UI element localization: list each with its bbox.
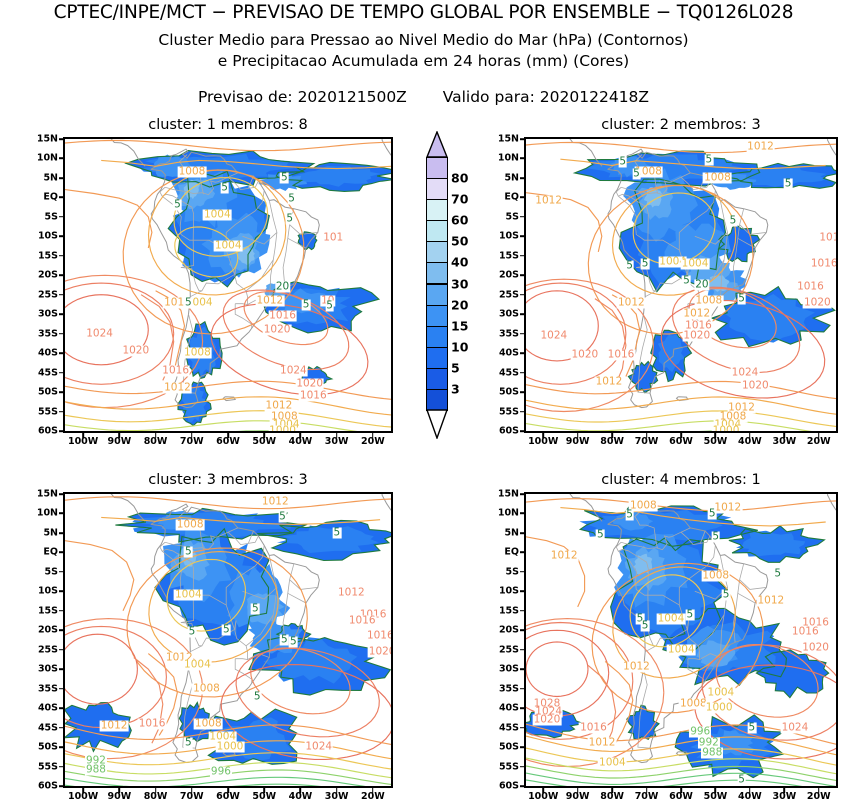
colorbar-tick-label: 15 <box>451 318 468 333</box>
y-axis-label: 60S <box>499 426 519 437</box>
y-axis-tick <box>59 610 64 612</box>
y-axis-label: 55S <box>499 406 519 417</box>
page-title: CPTEC/INPE/MCT − PREVISAO DE TEMPO GLOBA… <box>0 2 847 23</box>
y-axis-label: 20S <box>499 625 519 636</box>
isobar-label: 1012 <box>756 596 785 607</box>
y-axis-tick <box>59 333 64 335</box>
x-axis-label: 100W <box>68 436 98 447</box>
isobar-label: 1016 <box>810 258 838 269</box>
y-axis-tick <box>520 746 525 748</box>
y-axis-tick <box>520 629 525 631</box>
precip-contour-label: 5 <box>222 625 231 636</box>
plot-area-cluster-1[interactable]: 1008100410041012100410121016102010241020… <box>63 137 393 433</box>
y-axis-tick <box>520 216 525 218</box>
y-axis-tick <box>59 411 64 413</box>
precip-contour-label: 5 <box>184 738 193 749</box>
x-axis-label: 50W <box>704 791 728 802</box>
y-axis-label: 60S <box>38 781 58 792</box>
y-axis-tick <box>520 610 525 612</box>
y-axis-label: 45S <box>499 367 519 378</box>
isobar-label: 1004 <box>657 613 686 624</box>
y-axis-label: 20S <box>38 625 58 636</box>
y-axis-label: 10S <box>38 586 58 597</box>
y-axis-label: 10S <box>38 231 58 242</box>
isobar-label: 1024 <box>781 722 810 733</box>
y-axis-tick <box>59 785 64 787</box>
isobar-label: 1012 <box>337 588 366 599</box>
isobar-label: 1012 <box>713 502 742 513</box>
y-axis-label: 5N <box>43 527 58 538</box>
x-axis-label: 60W <box>216 791 240 802</box>
precip-contour-label: 5 <box>641 621 650 632</box>
panel-cluster-3[interactable]: cluster: 3 membros: 3 101210081004101210… <box>63 492 393 788</box>
precip-contour-label: 5 <box>184 547 193 558</box>
colorbar-band <box>426 326 448 348</box>
isobar-label: 1020 <box>533 714 562 725</box>
colorbar-gradient <box>426 157 448 410</box>
isobar-label: 1016 <box>579 722 608 733</box>
x-axis-label: 30W <box>772 436 796 447</box>
colorbar-tick-label: 70 <box>451 192 468 207</box>
x-axis-label: 30W <box>325 436 349 447</box>
x-axis-label: 40W <box>289 791 313 802</box>
panel-title-cluster-2: cluster: 2 membros: 3 <box>524 117 838 133</box>
y-axis-tick <box>59 688 64 690</box>
x-axis-label: 80W <box>600 436 624 447</box>
isobar-label: 1004 <box>598 757 627 768</box>
isobar-label: 1004 <box>214 241 243 252</box>
precip-contour-label: 5 <box>722 590 731 601</box>
x-axis-label: 80W <box>600 791 624 802</box>
x-axis-label: 100W <box>68 791 98 802</box>
isobar-label: 1020 <box>121 346 150 357</box>
y-axis-tick <box>59 629 64 631</box>
isobar-label: 1008 <box>694 295 723 306</box>
y-axis-label: 5N <box>504 172 519 183</box>
y-axis-tick <box>59 255 64 257</box>
isobar-label: 1008 <box>679 699 708 710</box>
y-axis-label: 30S <box>38 664 58 675</box>
x-axis-label: 50W <box>252 436 276 447</box>
y-axis-label: 5N <box>504 527 519 538</box>
valid-for: Valido para: 2020122418Z <box>443 88 649 106</box>
colorbar-tick-label: 20 <box>451 297 468 312</box>
x-axis-label: 90W <box>107 436 131 447</box>
x-axis-label: 90W <box>566 436 590 447</box>
isobar-label: 1012 <box>588 738 617 749</box>
colorbar-band <box>426 262 448 284</box>
y-axis-tick <box>520 177 525 179</box>
isobar-label: 1016 <box>791 627 820 638</box>
precip-contour-label: 20 <box>694 280 709 291</box>
precip-contour-label: 20 <box>275 281 290 292</box>
isobar-label: 1004 <box>681 258 710 269</box>
y-axis-tick <box>59 552 64 554</box>
x-axis-label: 20W <box>361 791 385 802</box>
isobar-label: 1004 <box>203 209 232 220</box>
y-axis-tick <box>520 372 525 374</box>
isobar-label: 1016 <box>366 631 393 642</box>
y-axis-label: 10N <box>37 508 58 519</box>
x-axis-label: 80W <box>144 791 168 802</box>
y-axis-tick <box>59 430 64 432</box>
y-axis-label: 10N <box>37 153 58 164</box>
x-axis-label: 60W <box>216 436 240 447</box>
y-axis-label: 15N <box>498 489 519 500</box>
isobar-label: 1020 <box>803 297 832 308</box>
x-axis-label: 40W <box>738 791 762 802</box>
x-axis-label: 70W <box>180 436 204 447</box>
colorbar-band <box>426 178 448 200</box>
precip-contour-label: 5 <box>253 691 262 702</box>
precip-contour-label: 5 <box>682 276 691 287</box>
y-axis-label: 35S <box>499 328 519 339</box>
map-canvas <box>526 494 836 786</box>
panel-cluster-4[interactable]: cluster: 4 membros: 1 100810121012100810… <box>524 492 838 788</box>
precip-contour-label: 5 <box>220 182 229 193</box>
colorbar-legend: 80706050403020151053 <box>421 131 477 439</box>
y-axis-tick <box>520 274 525 276</box>
y-axis-label: 10S <box>499 586 519 597</box>
x-axis-label: 20W <box>807 436 831 447</box>
isobar-label: 1024 <box>731 367 760 378</box>
y-axis-label: 50S <box>499 742 519 753</box>
colorbar-tick-label: 50 <box>451 234 468 249</box>
isobar-label: 1016 <box>268 311 297 322</box>
y-axis-tick <box>520 552 525 554</box>
y-axis-label: 25S <box>499 289 519 300</box>
precip-contour-label: 5 <box>251 603 260 614</box>
isobar-label: 1016 <box>796 281 825 292</box>
isobar-label: 1020 <box>801 642 830 653</box>
y-axis-label: 45S <box>38 722 58 733</box>
y-axis-tick <box>520 668 525 670</box>
isobar-label: 1020 <box>295 379 324 390</box>
y-axis-tick <box>59 707 64 709</box>
plot-area-cluster-2[interactable]: 1012100810081012100410041011016101610201… <box>524 137 838 433</box>
plot-area-cluster-3[interactable]: 1012100810041012101610161020101210041008… <box>63 492 393 788</box>
y-axis-label: 5S <box>45 211 58 222</box>
y-axis-label: 10N <box>498 153 519 164</box>
y-axis-label: 15S <box>499 250 519 261</box>
colorbar-tick-label: 40 <box>451 255 468 270</box>
subtitle-line-1: Cluster Medio para Pressao ao Nivel Medi… <box>0 31 847 49</box>
isobar-label: 1012 <box>746 141 775 152</box>
isobar-label: 1004 <box>707 687 736 698</box>
isobar-label: 1004 <box>667 644 696 655</box>
forecast-time-line: Previsao de: 2020121500Z Valido para: 20… <box>0 88 847 106</box>
colorbar-tick-label: 10 <box>451 339 468 354</box>
y-axis-label: 35S <box>38 683 58 694</box>
x-axis-label: 100W <box>528 436 558 447</box>
isobar-label: 1012 <box>595 377 624 388</box>
y-axis-label: 40S <box>38 348 58 359</box>
isobar-label: 1008 <box>183 348 212 359</box>
y-axis-tick <box>59 649 64 651</box>
precip-contour-label: 5 <box>280 172 289 183</box>
colorbar-band <box>426 241 448 263</box>
precip-contour-label: 5 <box>618 157 627 168</box>
isobar-label: 996 <box>210 767 232 778</box>
precip-contour-label: 5 <box>325 301 334 312</box>
precip-contour-label: 5 <box>173 200 182 211</box>
y-axis-tick <box>520 236 525 238</box>
x-axis-label: 100W <box>528 791 558 802</box>
precip-contour-label: 5 <box>737 293 746 304</box>
isobar-label: 1024 <box>279 365 308 376</box>
y-axis-tick <box>520 785 525 787</box>
y-axis-label: 25S <box>499 644 519 655</box>
y-axis-label: 15N <box>37 134 58 145</box>
y-axis-label: 40S <box>499 703 519 714</box>
isobar-label: 1008 <box>176 520 205 531</box>
colorbar-band <box>426 368 448 390</box>
y-axis-tick <box>59 158 64 160</box>
y-axis-label: 15S <box>38 605 58 616</box>
y-axis-tick <box>520 591 525 593</box>
y-axis-tick <box>520 333 525 335</box>
y-axis-label: 55S <box>38 761 58 772</box>
y-axis-label: 45S <box>499 722 519 733</box>
precip-contour-label: 5 <box>686 609 695 620</box>
colorbar-band <box>426 347 448 369</box>
colorbar-band <box>426 389 448 411</box>
precip-contour-label: 5 <box>773 568 782 579</box>
isobar-label: 1012 <box>682 309 711 320</box>
x-axis-label: 70W <box>180 791 204 802</box>
isobar-label: 1012 <box>617 297 646 308</box>
y-axis-tick <box>520 727 525 729</box>
precip-contour-label: 5 <box>708 508 717 519</box>
y-axis-tick <box>520 158 525 160</box>
precip-contour-label: 5 <box>289 636 298 647</box>
y-axis-tick <box>520 707 525 709</box>
colorbar-tick-label: 30 <box>451 276 468 291</box>
y-axis-tick <box>59 372 64 374</box>
precip-contour-label: 5 <box>711 531 720 542</box>
precip-contour-label: 5 <box>596 529 605 540</box>
y-axis-tick <box>59 571 64 573</box>
precip-contour-label: 5 <box>302 299 311 310</box>
y-axis-label: 60S <box>38 426 58 437</box>
isobar-label: 1020 <box>368 646 393 657</box>
y-axis-label: 15S <box>38 250 58 261</box>
colorbar-tick-label: 3 <box>451 381 460 396</box>
isobar-label: 1004 <box>183 660 212 671</box>
y-axis-label: 15S <box>499 605 519 616</box>
y-axis-tick <box>520 313 525 315</box>
panel-cluster-2[interactable]: cluster: 2 membros: 3 101210081008101210… <box>524 137 838 433</box>
isobar-label: 1020 <box>570 350 599 361</box>
y-axis-label: 55S <box>499 761 519 772</box>
isobar-label: 1016 <box>161 365 190 376</box>
precip-contour-label: 5 <box>632 169 641 180</box>
y-axis-label: 50S <box>38 742 58 753</box>
y-axis-label: 30S <box>38 309 58 320</box>
y-axis-label: EQ <box>43 192 58 203</box>
isobar-label: 1020 <box>263 324 292 335</box>
isobar-label: 1012 <box>550 551 579 562</box>
y-axis-tick <box>59 591 64 593</box>
x-axis-label: 20W <box>361 436 385 447</box>
precip-contour-label: 5 <box>784 178 793 189</box>
isobar-label: 1024 <box>304 742 333 753</box>
colorbar-tick-label: 60 <box>451 213 468 228</box>
y-axis-tick <box>59 274 64 276</box>
colorbar-band <box>426 157 448 179</box>
y-axis-tick <box>520 430 525 432</box>
isobar-label: 1024 <box>539 330 568 341</box>
precip-contour-label: 5 <box>625 510 634 521</box>
x-axis-label: 60W <box>669 436 693 447</box>
isobar-label: 1008 <box>178 167 207 178</box>
y-axis-label: 5S <box>506 566 519 577</box>
y-axis-label: 45S <box>38 367 58 378</box>
y-axis-label: 20S <box>499 270 519 281</box>
y-axis-label: 5S <box>506 211 519 222</box>
isobar-label: 1000 <box>705 703 734 714</box>
y-axis-label: 35S <box>38 328 58 339</box>
isobar-label: 1020 <box>682 330 711 341</box>
isobar-label: 1000 <box>268 426 297 433</box>
isobar-label: 1012 <box>622 662 651 673</box>
y-axis-label: 10N <box>498 508 519 519</box>
isobar-label: 1012 <box>265 400 294 411</box>
isobar-label: 101 <box>322 233 344 244</box>
subtitle-line-2: e Precipitacao Acumulada em 24 horas (mm… <box>0 52 847 70</box>
x-axis-label: 90W <box>566 791 590 802</box>
isobar-label: 1016 <box>138 718 167 729</box>
x-axis-label: 50W <box>252 791 276 802</box>
isobar-label: 988 <box>701 747 723 758</box>
y-axis-tick <box>59 294 64 296</box>
y-axis-tick <box>59 236 64 238</box>
isobar-label: 1016 <box>299 390 328 401</box>
x-axis-label: 80W <box>144 436 168 447</box>
y-axis-tick <box>520 688 525 690</box>
isobar-label: 996 <box>689 726 711 737</box>
precip-contour-label: 5 <box>333 527 342 538</box>
isobar-label: 1008 <box>703 172 732 183</box>
precip-contour-label: 5 <box>704 155 713 166</box>
colorbar-over-arrow-icon <box>426 131 448 158</box>
y-axis-tick <box>520 197 525 199</box>
y-axis-tick <box>59 352 64 354</box>
isobar-label: 1016 <box>348 615 377 626</box>
precip-contour-label: 5 <box>184 297 193 308</box>
y-axis-tick <box>59 197 64 199</box>
y-axis-label: EQ <box>43 547 58 558</box>
precip-contour-label: 5 <box>641 258 650 269</box>
colorbar-band <box>426 305 448 327</box>
isobar-label: 1000 <box>712 426 741 433</box>
isobar-label: 1008 <box>701 570 730 581</box>
panel-title-cluster-3: cluster: 3 membros: 3 <box>63 472 393 488</box>
y-axis-label: 15N <box>37 489 58 500</box>
y-axis-label: EQ <box>504 547 519 558</box>
y-axis-tick <box>59 216 64 218</box>
y-axis-tick <box>59 513 64 515</box>
x-axis-label: 50W <box>704 436 728 447</box>
isobar-label: 988 <box>85 765 107 776</box>
isobar-label: 1012 <box>100 720 129 731</box>
x-axis-label: 60W <box>669 791 693 802</box>
forecast-from: Previsao de: 2020121500Z <box>198 88 407 106</box>
y-axis-tick <box>520 138 525 140</box>
y-axis-label: 30S <box>499 309 519 320</box>
y-axis-label: 60S <box>499 781 519 792</box>
y-axis-label: 5N <box>43 172 58 183</box>
y-axis-tick <box>59 313 64 315</box>
y-axis-tick <box>520 513 525 515</box>
y-axis-label: 40S <box>38 703 58 714</box>
isobar-label: 1012 <box>534 196 563 207</box>
isobar-label: 1012 <box>261 496 290 507</box>
y-axis-label: 10S <box>499 231 519 242</box>
x-axis-label: 90W <box>107 791 131 802</box>
y-axis-tick <box>520 391 525 393</box>
isobar-label: 1020 <box>741 381 770 392</box>
plot-area-cluster-4[interactable]: 1008101210121008101210161004101610201004… <box>524 492 838 788</box>
y-axis-label: 25S <box>38 289 58 300</box>
precip-contour-label: 5 <box>280 635 289 646</box>
precip-contour-label: 5 <box>285 213 294 224</box>
x-axis-label: 70W <box>635 791 659 802</box>
y-axis-tick <box>59 532 64 534</box>
x-axis-label: 30W <box>772 791 796 802</box>
y-axis-label: 15N <box>498 134 519 145</box>
precip-contour-label: 5 <box>729 215 738 226</box>
y-axis-tick <box>59 177 64 179</box>
y-axis-tick <box>520 571 525 573</box>
isobar-label: 1024 <box>85 328 114 339</box>
precip-contour-label: 5 <box>188 627 197 638</box>
y-axis-label: 20S <box>38 270 58 281</box>
colorbar-band <box>426 220 448 242</box>
y-axis-tick <box>520 649 525 651</box>
y-axis-label: 55S <box>38 406 58 417</box>
precip-contour-label: 5 <box>278 512 287 523</box>
y-axis-tick <box>59 493 64 495</box>
x-axis-label: 40W <box>289 436 313 447</box>
y-axis-tick <box>520 294 525 296</box>
y-axis-label: 25S <box>38 644 58 655</box>
colorbar-tick-label: 5 <box>451 360 460 375</box>
colorbar-band <box>426 199 448 221</box>
y-axis-tick <box>59 727 64 729</box>
y-axis-label: 30S <box>499 664 519 675</box>
y-axis-tick <box>520 411 525 413</box>
isobar-label: 101 <box>818 233 838 244</box>
x-axis-label: 40W <box>738 436 762 447</box>
y-axis-tick <box>520 493 525 495</box>
isobar-label: 1016 <box>607 350 636 361</box>
y-axis-label: 5S <box>45 566 58 577</box>
y-axis-tick <box>520 766 525 768</box>
y-axis-tick <box>59 766 64 768</box>
y-axis-label: 50S <box>38 387 58 398</box>
y-axis-tick <box>520 255 525 257</box>
colorbar-tick-label: 80 <box>451 171 468 186</box>
isobar-label: 1008 <box>194 718 223 729</box>
panel-cluster-1[interactable]: cluster: 1 membros: 8 100810041004101210… <box>63 137 393 433</box>
precip-contour-label: 5 <box>287 193 296 204</box>
x-axis-label: 30W <box>325 791 349 802</box>
y-axis-tick <box>59 391 64 393</box>
x-axis-label: 20W <box>807 791 831 802</box>
y-axis-tick <box>520 352 525 354</box>
panel-title-cluster-4: cluster: 4 membros: 1 <box>524 472 838 488</box>
